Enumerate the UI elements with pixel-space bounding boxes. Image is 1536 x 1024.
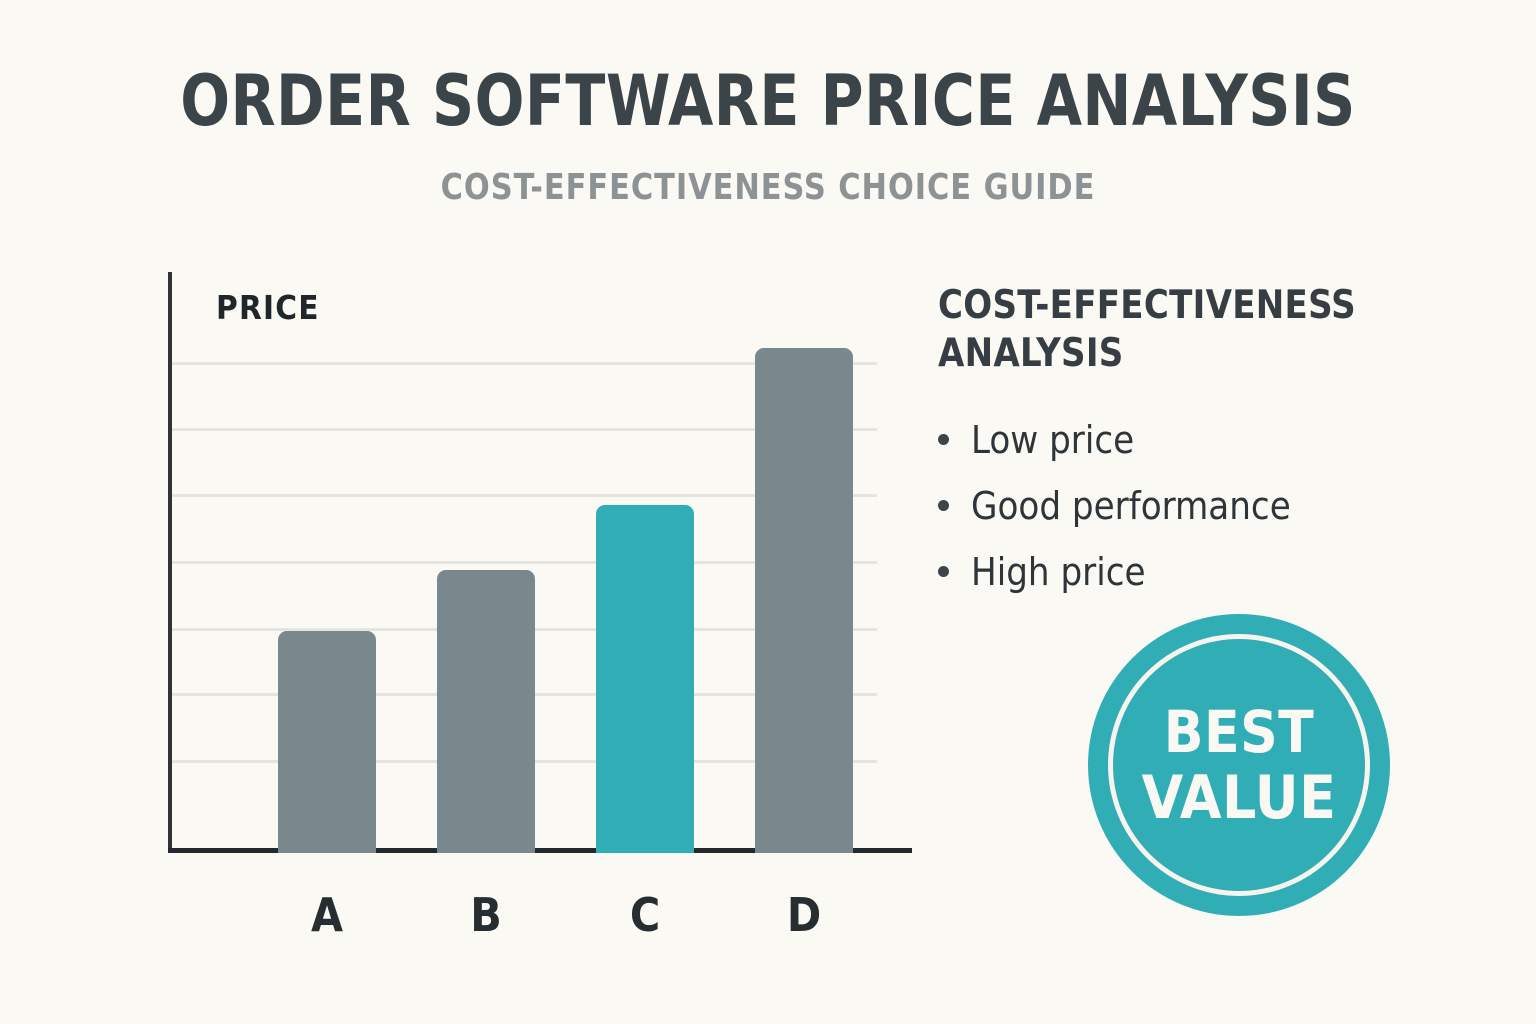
bar-c[interactable]	[596, 505, 694, 853]
list-item: Good performance	[938, 484, 1458, 528]
list-item-label: High price	[971, 550, 1146, 594]
list-item-label: Low price	[971, 418, 1134, 462]
bar-d[interactable]	[755, 348, 853, 853]
x-axis-tick-b: B	[437, 890, 535, 940]
x-axis-tick-d: D	[755, 890, 853, 940]
list-item: High price	[938, 550, 1458, 594]
y-axis-line	[168, 272, 172, 852]
x-axis-tick-c: C	[596, 890, 694, 940]
bar-chart: PRICE A B C D	[150, 258, 940, 948]
bullet-dot-icon	[938, 566, 949, 577]
analysis-panel: COST-EFFECTIVENESS ANALYSIS Low price Go…	[938, 282, 1458, 616]
page-title: ORDER SOFTWARE PRICE ANALYSIS	[54, 62, 1482, 140]
benefits-list: Low price Good performance High price	[938, 418, 1458, 594]
badge-line-1: BEST	[1164, 702, 1315, 762]
bar-a[interactable]	[278, 631, 376, 853]
y-axis-label: PRICE	[216, 288, 320, 327]
list-item-label: Good performance	[971, 484, 1291, 528]
bar-b[interactable]	[437, 570, 535, 853]
bullet-dot-icon	[938, 434, 949, 445]
x-axis-tick-a: A	[278, 890, 376, 940]
best-value-badge[interactable]: BEST VALUE	[1088, 614, 1390, 916]
page-subtitle: COST-EFFECTIVENESS CHOICE GUIDE	[46, 166, 1490, 210]
list-item: Low price	[938, 418, 1458, 462]
badge-line-2: VALUE	[1142, 768, 1337, 828]
bullet-dot-icon	[938, 500, 949, 511]
badge-text-group: BEST VALUE	[1088, 614, 1390, 916]
analysis-panel-heading: COST-EFFECTIVENESS ANALYSIS	[938, 282, 1442, 378]
poster-canvas: ORDER SOFTWARE PRICE ANALYSIS COST-EFFEC…	[0, 0, 1536, 1024]
